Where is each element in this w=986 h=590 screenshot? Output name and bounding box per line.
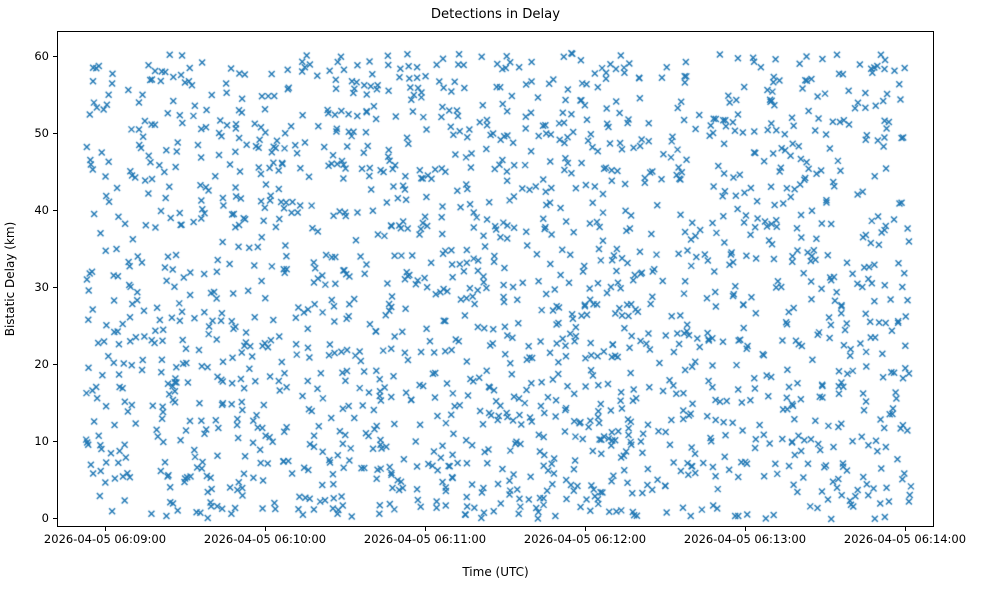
x-tick-mark — [425, 527, 426, 531]
x-tick-mark — [585, 527, 586, 531]
x-tick-label: 2026-04-05 06:09:00 — [44, 533, 166, 546]
x-axis-label: Time (UTC) — [57, 565, 934, 579]
x-tick-label: 2026-04-05 06:14:00 — [844, 533, 966, 546]
x-axis-ticks: 2026-04-05 06:09:002026-04-05 06:10:0020… — [0, 0, 986, 590]
matplotlib-figure: Detections in Delay 0102030405060 2026-0… — [0, 0, 986, 590]
x-tick-label: 2026-04-05 06:12:00 — [524, 533, 646, 546]
x-tick-label: 2026-04-05 06:11:00 — [364, 533, 486, 546]
y-axis-label-container: Bistatic Delay (km) — [2, 0, 18, 590]
x-tick-mark — [105, 527, 106, 531]
x-tick-mark — [905, 527, 906, 531]
x-tick-label: 2026-04-05 06:10:00 — [204, 533, 326, 546]
y-axis-label: Bistatic Delay (km) — [3, 222, 17, 337]
x-tick-label: 2026-04-05 06:13:00 — [684, 533, 806, 546]
x-tick-mark — [265, 527, 266, 531]
x-tick-mark — [745, 527, 746, 531]
